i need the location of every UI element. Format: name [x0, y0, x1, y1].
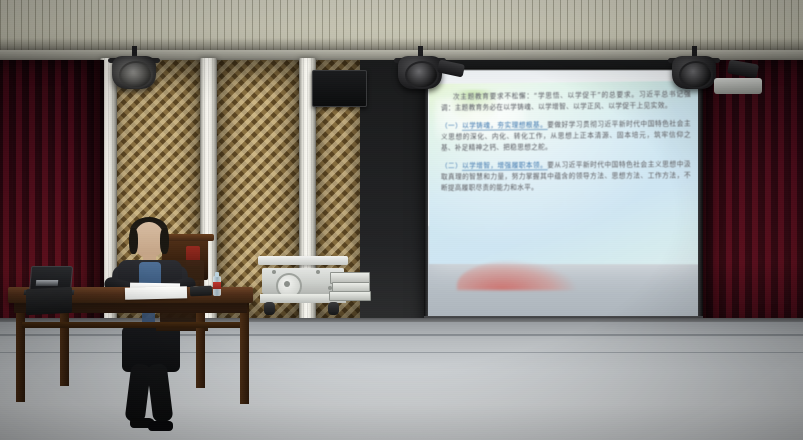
laptop-screen-glare [36, 280, 59, 286]
stacked-equipment-3 [329, 291, 371, 301]
slide-paragraph-one: （一）以学铸魂，夯实理想根基。要做好学习贯彻习近平新时代中国特色社会主义思想的深… [441, 118, 691, 154]
documents [125, 286, 187, 300]
presenter-hair-right [160, 228, 169, 254]
table-leg-2 [60, 302, 69, 386]
table-leg-4 [240, 302, 249, 404]
slide-marker-two: （二） [441, 162, 462, 170]
floor-seam-lower [0, 352, 803, 353]
cart-caster-left [264, 302, 275, 315]
stage-curtain-right [697, 60, 803, 330]
slide-marker-one: （一） [441, 122, 462, 130]
slide-paragraph-two: （二）以学增智，增强履职本领。要从习近平新时代中国特色社会主义思想中汲取真理的智… [441, 159, 691, 194]
floor-speaker [26, 287, 72, 315]
screenshot-root: 次主题教育要求不松懈：“学思悟、以学促干”的总要求。习近平总书记强调：主题教育务… [0, 0, 803, 440]
table-leg-1 [16, 302, 25, 402]
water-bottle-cap [215, 272, 219, 277]
wall-monitor[interactable] [312, 70, 367, 107]
light-lens-right [679, 61, 713, 89]
cart-handwheel-hub [284, 281, 290, 287]
light-glow-left [102, 54, 166, 94]
slide-highlight-two: 以学增智，增强履职本领。 [462, 161, 547, 171]
light-lens-center [405, 61, 439, 89]
cart-bolt-2 [316, 270, 320, 274]
slide-text-block: 次主题教育要求不松懈：“学思悟、以学促干”的总要求。习近平总书记强调：主题教育务… [441, 89, 691, 201]
floor-seam-upper [0, 334, 803, 336]
projection-screen: 次主题教育要求不松懈：“学思悟、以学促干”的总要求。习近平总书记强调：主题教育务… [427, 70, 699, 319]
dark-device-on-table[interactable] [190, 286, 212, 297]
presenter-shoe-right [148, 421, 173, 431]
cart-top-shelf [258, 256, 348, 265]
slide-paragraph-opening: 次主题教育要求不松懈：“学思悟、以学促干”的总要求。习近平总书记强调：主题教育务… [441, 89, 691, 114]
slide-highlight-one: 以学铸魂，夯实理想根基。 [462, 121, 547, 131]
cart-caster-right [328, 302, 339, 315]
screen-edge-left [424, 68, 428, 323]
table-stretcher [22, 322, 240, 328]
presenter-hair-left [129, 228, 138, 254]
screen-edge-right [698, 68, 703, 323]
ceiling [0, 0, 803, 52]
water-bottle-label [213, 282, 221, 289]
floor [0, 322, 803, 440]
light-mount-bracket-right [714, 78, 762, 94]
table-leg-3 [196, 302, 205, 388]
cart-bolt-1 [272, 270, 276, 274]
